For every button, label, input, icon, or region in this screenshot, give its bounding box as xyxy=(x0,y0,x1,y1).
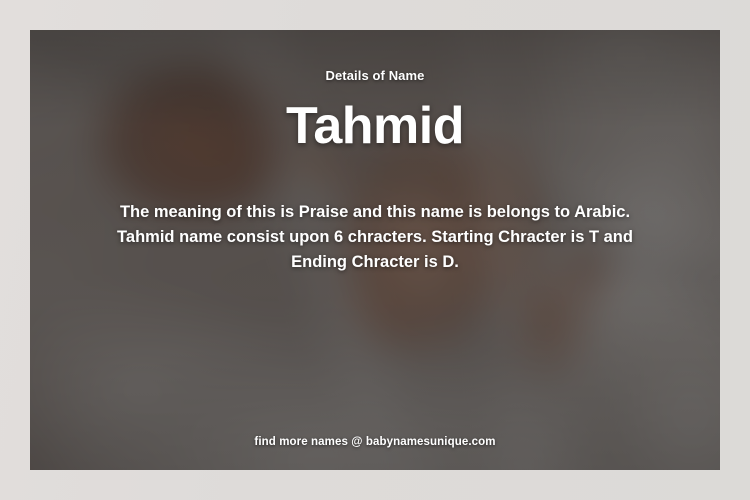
name-detail-card: Details of Name Tahmid The meaning of th… xyxy=(30,30,720,470)
name-description: The meaning of this is Praise and this n… xyxy=(110,200,640,275)
poster-page: Details of Name Tahmid The meaning of th… xyxy=(0,0,750,500)
site-footer-credit: find more names @ babynamesunique.com xyxy=(30,436,720,448)
name-title: Tahmid xyxy=(286,100,464,152)
card-content: Details of Name Tahmid The meaning of th… xyxy=(30,30,720,470)
card-eyebrow-label: Details of Name xyxy=(325,68,424,83)
